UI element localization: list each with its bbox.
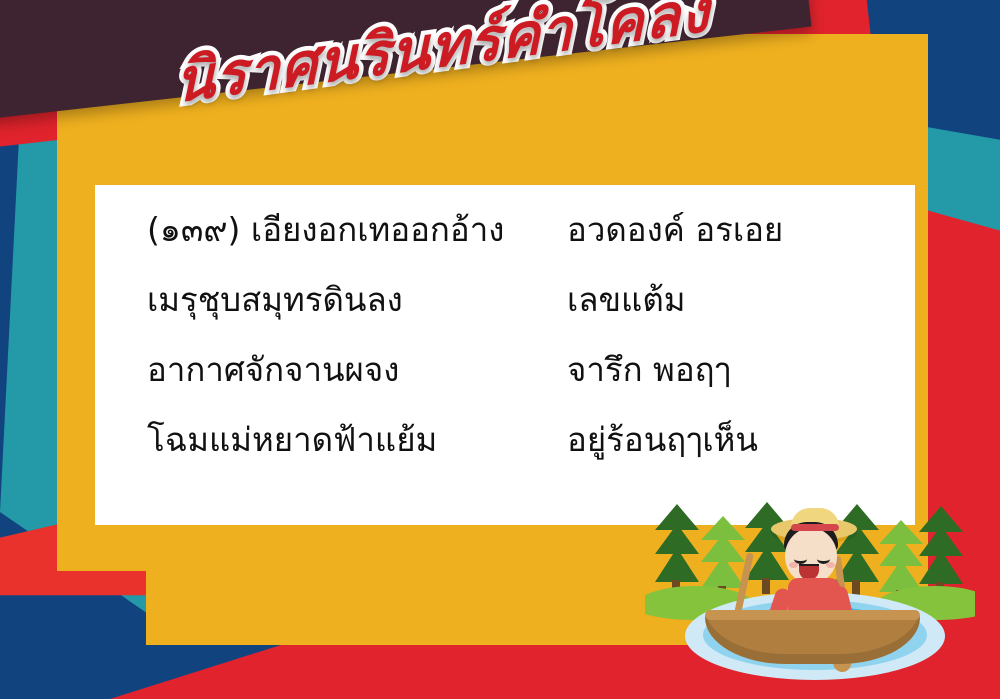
verse-line: โฉมแม่หยาดฟ้าแย้ม อยู่ร้อนฤๅเห็น: [147, 421, 915, 491]
verse-line: อากาศจักจานผจง จารึก พอฤๅ: [147, 351, 915, 421]
verse-line-left: อากาศจักจานผจง: [147, 351, 567, 389]
straw-hat-band: [791, 524, 839, 531]
poster-canvas: นิราศนรินทร์คำโคลง (๑๓๙) เอียงอกเทออกอ้า…: [0, 0, 1000, 699]
boy-cheek-left: [789, 562, 798, 568]
verse-line: เมรุชุบสมุทรดินลง เลขแต้ม: [147, 281, 915, 351]
verse-line-left: เมรุชุบสมุทรดินลง: [147, 281, 567, 319]
verse-line-left: โฉมแม่หยาดฟ้าแย้ม: [147, 421, 567, 459]
verse-line-right: เลขแต้ม: [567, 281, 915, 319]
verse-block: (๑๓๙) เอียงอกเทออกอ้าง อวดองค์ อรเอย เมร…: [95, 185, 915, 525]
verse-line-right: อยู่ร้อนฤๅเห็น: [567, 421, 915, 459]
wooden-boat-rim: [705, 610, 920, 620]
verse-line: (๑๓๙) เอียงอกเทออกอ้าง อวดองค์ อรเอย: [147, 211, 915, 281]
verse-line-right: อวดองค์ อรเอย: [567, 211, 915, 249]
verse-line-left: (๑๓๙) เอียงอกเทออกอ้าง: [147, 211, 567, 249]
verse-line-right: จารึก พอฤๅ: [567, 351, 915, 389]
illustration-boy-rowing-boat: [645, 500, 975, 685]
boy-cheek-right: [826, 562, 835, 568]
verse-card: (๑๓๙) เอียงอกเทออกอ้าง อวดองค์ อรเอย เมร…: [95, 185, 915, 525]
